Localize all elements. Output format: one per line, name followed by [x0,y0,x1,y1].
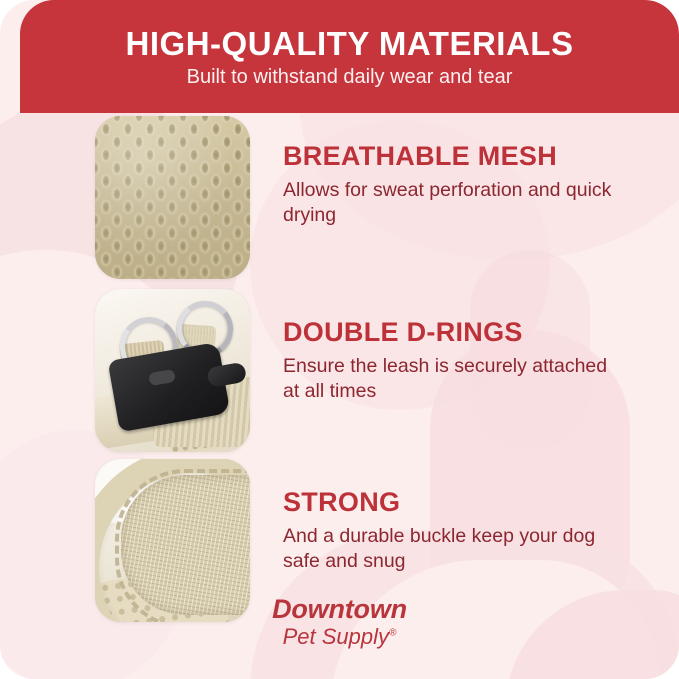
feature-row-double-d-rings: DOUBLE D-RINGS Ensure the leash is secur… [0,283,679,453]
header-banner: HIGH-QUALITY MATERIALS Built to withstan… [20,0,679,113]
registered-trademark-icon: ® [389,628,396,639]
feature-list: BREATHABLE MESH Allows for sweat perfora… [0,113,679,623]
feature-description: And a durable buckle keep your dog safe … [283,524,613,574]
feature-row-breathable-mesh: BREATHABLE MESH Allows for sweat perfora… [0,113,679,283]
mesh-photo-thumbnail [95,116,250,279]
feature-title: STRONG [283,489,613,516]
brand-logo: Downtown Pet Supply® [0,596,679,648]
infographic-card: HIGH-QUALITY MATERIALS Built to withstan… [0,0,679,679]
feature-title: DOUBLE D-RINGS [283,319,613,346]
feature-title: BREATHABLE MESH [283,143,613,170]
feature-description: Allows for sweat perforation and quick d… [283,178,613,228]
feature-description: Ensure the leash is securely attached at… [283,354,613,404]
brand-name-secondary: Pet Supply® [0,626,679,648]
d-rings-photo-thumbnail [95,289,250,452]
brand-name-primary: Downtown [0,596,679,623]
feature-text-block: DOUBLE D-RINGS Ensure the leash is secur… [283,283,613,404]
feature-text-block: BREATHABLE MESH Allows for sweat perfora… [283,113,613,228]
d-ring-scene [95,289,250,452]
feature-text-block: STRONG And a durable buckle keep your do… [283,453,613,574]
page-title: HIGH-QUALITY MATERIALS [126,27,574,60]
brand-name-secondary-text: Pet Supply [283,624,389,649]
mesh-texture-icon [95,116,250,279]
page-subtitle: Built to withstand daily wear and tear [187,67,513,87]
